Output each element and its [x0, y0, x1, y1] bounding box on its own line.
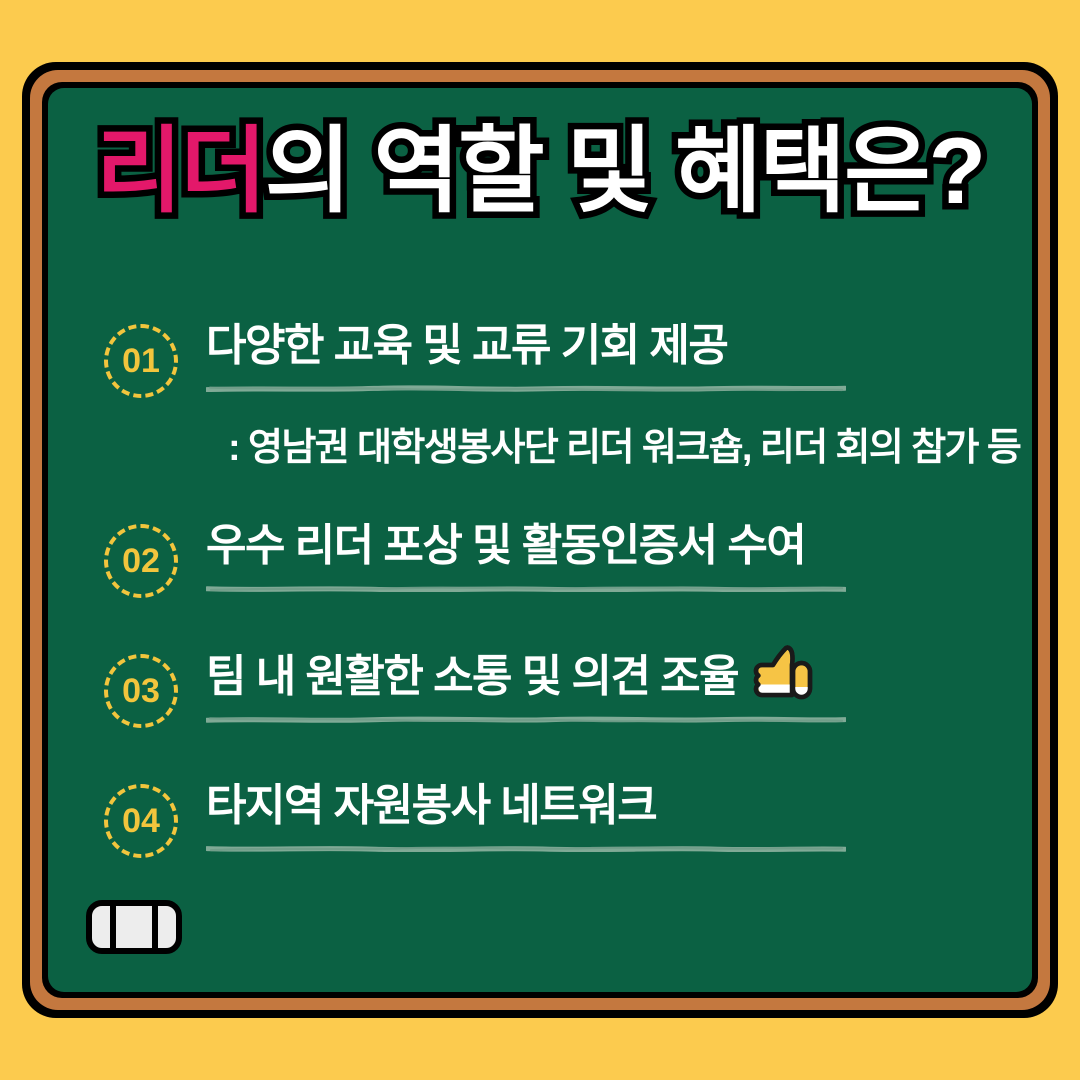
item-title-04: 타지역 자원봉사 네트워크 — [206, 778, 1002, 833]
item-body-01: 다양한 교육 및 교류 기회 제공 : 영남권 대학생봉사단 리더 워크숍, 리… — [206, 318, 1002, 471]
list-item: 01 다양한 교육 및 교류 기회 제공 — [48, 318, 1032, 518]
item-title-text: 다양한 교육 및 교류 기회 제공 — [206, 318, 727, 373]
item-number-label: 02 — [122, 544, 160, 578]
item-number-badge-03: 03 — [104, 654, 178, 728]
item-body-02: 우수 리더 포상 및 활동인증서 수여 — [206, 518, 1002, 592]
item-body-04: 타지역 자원봉사 네트워크 — [206, 778, 1002, 852]
item-title-text: 우수 리더 포상 및 활동인증서 수여 — [206, 518, 805, 573]
item-subtitle-01: : 영남권 대학생봉사단 리더 워크숍, 리더 회의 참가 등 — [228, 416, 1002, 471]
list-item: 04 타지역 자원봉사 네트워크 — [48, 778, 1032, 908]
benefit-list: 01 다양한 교육 및 교류 기회 제공 — [48, 318, 1032, 908]
page-title-accent: 리더 — [96, 118, 265, 223]
chalk-underline-01 — [206, 385, 846, 392]
list-item: 02 우수 리더 포상 및 활동인증서 수여 — [48, 518, 1032, 648]
item-title-text: 타지역 자원봉사 네트워크 — [206, 778, 656, 833]
item-number-badge-01: 01 — [104, 324, 178, 398]
item-number-label: 04 — [122, 804, 160, 838]
item-title-02: 우수 리더 포상 및 활동인증서 수여 — [206, 518, 1002, 573]
item-number-label: 01 — [122, 344, 160, 378]
item-body-03: 팀 내 원활한 소통 및 의견 조율 — [206, 648, 1002, 723]
thumbs-up-icon — [752, 644, 816, 700]
item-title-03: 팀 내 원활한 소통 및 의견 조율 — [206, 648, 1002, 704]
item-number-badge-02: 02 — [104, 524, 178, 598]
chalkboard-outer-border: 리더의 역할 및 혜택은? 01 다양한 교육 및 교류 기회 제공 — [22, 62, 1058, 1018]
item-title-01: 다양한 교육 및 교류 기회 제공 — [206, 318, 1002, 373]
chalk-underline-02 — [206, 585, 846, 592]
poster-canvas: 리더의 역할 및 혜택은? 01 다양한 교육 및 교류 기회 제공 — [0, 0, 1080, 1080]
page-title-rest: 의 역할 및 혜택은? — [265, 118, 984, 223]
chalk-underline-03 — [206, 716, 846, 723]
chalkboard-wooden-frame: 리더의 역할 및 혜택은? 01 다양한 교육 및 교류 기회 제공 — [30, 70, 1050, 1010]
page-title: 리더의 역할 및 혜택은? — [48, 122, 1032, 221]
list-item: 03 팀 내 원활한 소통 및 의견 조율 — [48, 648, 1032, 778]
item-number-badge-04: 04 — [104, 784, 178, 858]
chalkboard-surface: 리더의 역할 및 혜택은? 01 다양한 교육 및 교류 기회 제공 — [48, 88, 1032, 992]
chalkboard-inner-border: 리더의 역할 및 혜택은? 01 다양한 교육 및 교류 기회 제공 — [42, 82, 1038, 998]
chalk-underline-04 — [206, 845, 846, 852]
eraser-icon — [86, 900, 182, 954]
item-number-label: 03 — [122, 674, 160, 708]
item-title-text: 팀 내 원활한 소통 및 의견 조율 — [206, 649, 738, 704]
